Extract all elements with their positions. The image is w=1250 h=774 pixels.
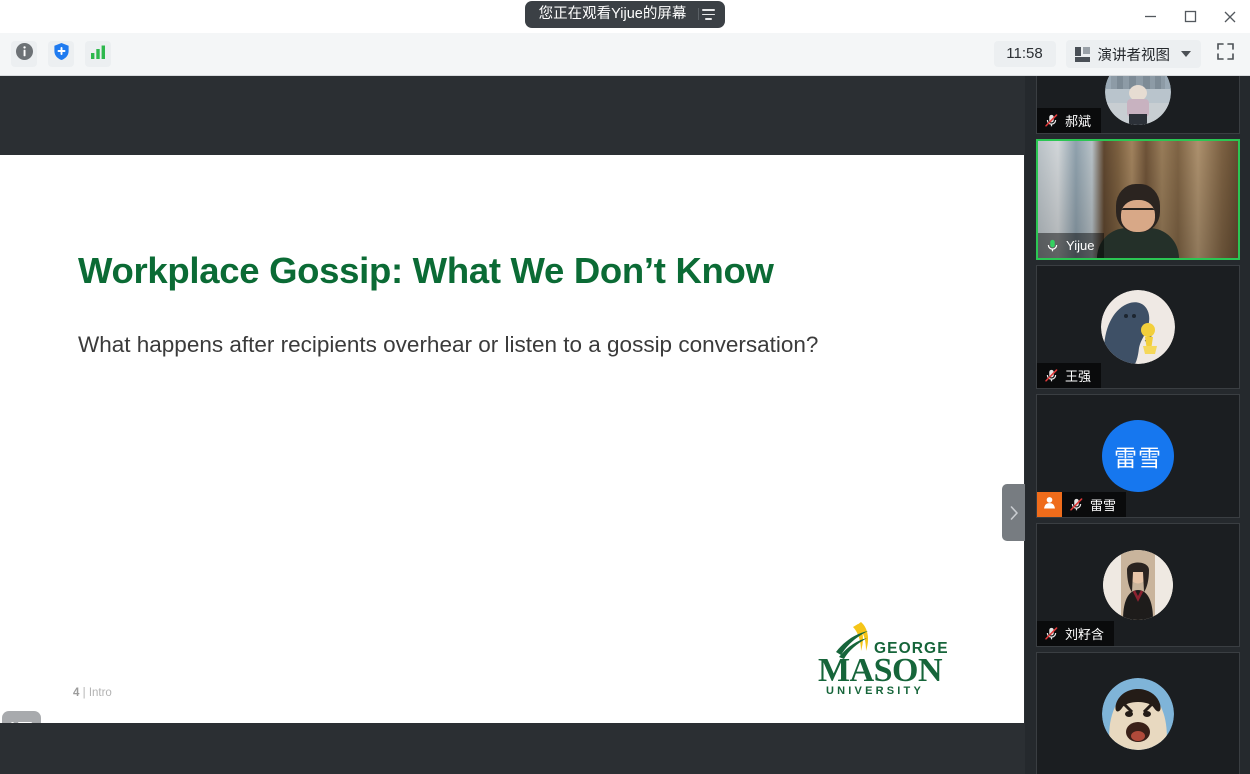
toolbar-right-group: 11:58 演讲者视图 xyxy=(994,40,1240,68)
participant-name: 雷雪 xyxy=(1090,495,1116,514)
participant-tile[interactable]: 刘籽含 xyxy=(1036,523,1240,647)
meeting-timer: 11:58 xyxy=(994,41,1056,67)
slide-section: Intro xyxy=(89,687,112,699)
participant-video: 刘籽含 xyxy=(1037,524,1239,646)
participant-name: 王强 xyxy=(1065,366,1091,385)
screen-share-banner[interactable]: 您正在观看Yijue的屏幕 xyxy=(525,1,726,28)
participant-name: 刘籽含 xyxy=(1065,624,1104,643)
presentation-slide: Workplace Gossip: What We Don’t Know Wha… xyxy=(0,155,1024,723)
person-badge-icon xyxy=(1042,495,1057,515)
participant-tile[interactable] xyxy=(1036,652,1240,774)
close-icon[interactable] xyxy=(1210,0,1250,33)
caret-down-icon[interactable] xyxy=(1181,51,1191,57)
slide-number: 4 xyxy=(73,687,79,699)
participant-name-bar: 刘籽含 xyxy=(1037,621,1114,646)
fullscreen-button[interactable] xyxy=(1211,40,1239,68)
participant-tile[interactable]: 王强 xyxy=(1036,265,1240,389)
hamburger-menu-icon[interactable] xyxy=(698,8,715,20)
maximize-icon[interactable] xyxy=(1170,0,1210,33)
toolbar-left-group xyxy=(11,41,111,67)
participant-panel: 郝斌 xyxy=(1025,76,1250,774)
slide-title: Workplace Gossip: What We Don’t Know xyxy=(78,250,774,292)
window-controls xyxy=(1130,0,1250,33)
avatar-area xyxy=(1037,653,1239,774)
zoom-meeting-window: 您正在观看Yijue的屏幕 xyxy=(0,0,1250,774)
participant-video: 郝斌 xyxy=(1037,76,1239,133)
signal-bars-icon xyxy=(90,44,107,65)
layout-icon xyxy=(1075,47,1090,62)
participant-name: Yijue xyxy=(1066,238,1094,253)
participant-name-bar: 雷雪 xyxy=(1062,492,1126,517)
share-banner-text: 您正在观看Yijue的屏幕 xyxy=(539,7,687,22)
mic-muted-icon xyxy=(1044,113,1059,128)
encryption-shield-button[interactable] xyxy=(48,41,74,67)
mic-muted-icon xyxy=(1069,497,1084,512)
view-mode-label: 演讲者视图 xyxy=(1098,44,1171,65)
fullscreen-icon xyxy=(1216,42,1235,66)
footer-separator: | xyxy=(83,687,86,699)
shield-plus-icon xyxy=(52,42,71,66)
george-mason-university-logo: GEORGE MASON UNIVERSITY xyxy=(806,619,958,697)
meeting-info-button[interactable] xyxy=(11,41,37,67)
mic-muted-icon xyxy=(1044,626,1059,641)
meeting-toolbar: 11:58 演讲者视图 xyxy=(0,33,1250,76)
avatar xyxy=(1105,76,1171,125)
participant-tiles: 郝斌 xyxy=(1034,76,1250,774)
title-bar: 您正在观看Yijue的屏幕 xyxy=(0,0,1250,33)
svg-text:MASON: MASON xyxy=(818,652,943,689)
network-quality-button[interactable] xyxy=(85,41,111,67)
avatar xyxy=(1102,678,1174,750)
host-badge xyxy=(1037,492,1062,517)
avatar xyxy=(1101,290,1175,364)
participant-name-bar: 郝斌 xyxy=(1037,108,1101,133)
avatar xyxy=(1103,550,1173,620)
participant-tile[interactable]: 郝斌 xyxy=(1036,76,1240,134)
chevron-right-icon xyxy=(1009,505,1019,521)
video-person xyxy=(1095,184,1181,258)
participant-video xyxy=(1037,653,1239,774)
participant-tile[interactable]: 雷雪 xyxy=(1036,394,1240,518)
slide-subtitle: What happens after recipients overhear o… xyxy=(78,332,818,358)
slide-list-icon xyxy=(11,722,32,723)
participant-name: 郝斌 xyxy=(1065,111,1091,130)
collapse-panel-button[interactable] xyxy=(1002,484,1025,541)
mic-on-icon xyxy=(1045,238,1060,253)
shared-screen-stage: Workplace Gossip: What We Don’t Know Wha… xyxy=(0,76,1024,774)
participant-video: 王强 xyxy=(1037,266,1239,388)
participant-name-bar: 王强 xyxy=(1037,363,1101,388)
avatar-initials: 雷雪 xyxy=(1102,420,1174,492)
view-mode-selector[interactable]: 演讲者视图 xyxy=(1066,40,1202,68)
slide-navigation-button[interactable] xyxy=(2,711,41,723)
participant-tile[interactable]: Yijue xyxy=(1036,139,1240,260)
participant-video: Yijue xyxy=(1038,141,1238,258)
participant-video: 雷雪 xyxy=(1037,395,1239,517)
svg-text:UNIVERSITY: UNIVERSITY xyxy=(826,685,924,697)
info-icon xyxy=(15,42,34,66)
minimize-icon[interactable] xyxy=(1130,0,1170,33)
participant-name-bar: Yijue xyxy=(1038,233,1104,258)
slide-footer: 4 | Intro xyxy=(73,687,112,699)
mic-muted-icon xyxy=(1044,368,1059,383)
